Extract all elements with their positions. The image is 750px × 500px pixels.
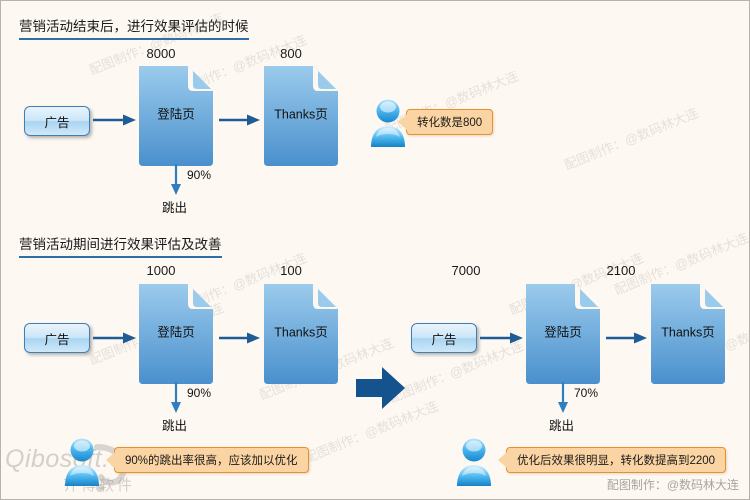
callout-tail — [106, 452, 115, 468]
diagram-canvas: 配图制作：@数码林大连 配图制作：@数码林大连 配图制作：@数码林大连 配图制作… — [0, 0, 750, 500]
arrow-ad-to-landing-2 — [93, 331, 137, 345]
bounce-rate-2: 90% — [187, 386, 211, 400]
section-title-1: 营销活动结束后，进行效果评估的时候 — [19, 15, 249, 40]
callout-tail — [498, 452, 507, 468]
ad-node-label: 广告 — [44, 112, 69, 131]
section-title-2: 营销活动期间进行效果评估及改善 — [19, 233, 222, 258]
thanks-page-node-1[interactable]: Thanks页 — [261, 63, 341, 168]
arrow-landing-to-thanks-3 — [606, 331, 648, 345]
arrow-landing-to-thanks-2 — [219, 331, 261, 345]
landing-page-node-2[interactable]: 登陆页 — [136, 281, 216, 386]
landing-count-2: 1000 — [126, 263, 196, 278]
bounce-label-1: 跳出 — [162, 197, 187, 216]
person-avatar-2 — [61, 436, 103, 491]
bounce-label-2: 跳出 — [162, 415, 187, 434]
footer-credit: 配图制作：@数码林大连 — [607, 476, 739, 493]
arrow-landing-to-thanks-1 — [219, 113, 261, 127]
thanks-page-node-2[interactable]: Thanks页 — [261, 281, 341, 386]
callout-tail — [398, 114, 407, 130]
callout-2: 90%的跳出率很高，应该加以优化 — [114, 447, 309, 473]
thanks-count-3: 2100 — [586, 263, 656, 278]
transition-block-arrow-icon — [356, 366, 406, 415]
thanks-count-1: 800 — [256, 46, 326, 61]
arrow-ad-to-landing-3 — [480, 331, 524, 345]
landing-page-node-3[interactable]: 登陆页 — [523, 281, 603, 386]
arrow-bounce-2 — [169, 382, 183, 414]
callout-text: 优化后效果很明显，转化数提高到2200 — [517, 452, 715, 468]
person-avatar-3 — [453, 436, 495, 491]
callout-3: 优化后效果很明显，转化数提高到2200 — [506, 447, 726, 473]
bounce-rate-1: 90% — [187, 168, 211, 182]
bounce-label-3: 跳出 — [549, 415, 574, 434]
ad-node-label: 广告 — [431, 329, 456, 348]
arrow-ad-to-landing-1 — [93, 113, 137, 127]
landing-count-3: 7000 — [431, 263, 501, 278]
landing-page-node-1[interactable]: 登陆页 — [136, 63, 216, 168]
arrow-bounce-3 — [556, 382, 570, 414]
ad-node-1[interactable]: 广告 — [24, 106, 90, 136]
landing-count-1: 8000 — [126, 46, 196, 61]
thanks-count-2: 100 — [256, 263, 326, 278]
ad-node-2[interactable]: 广告 — [24, 323, 90, 353]
callout-text: 90%的跳出率很高，应该加以优化 — [125, 452, 298, 468]
arrow-bounce-1 — [169, 164, 183, 196]
watermark-text: 配图制作：@数码林大连 — [561, 102, 701, 173]
thanks-page-node-3[interactable]: Thanks页 — [648, 281, 728, 386]
bounce-rate-3: 70% — [574, 386, 598, 400]
callout-1: 转化数是800 — [406, 109, 493, 135]
ad-node-label: 广告 — [44, 329, 69, 348]
ad-node-3[interactable]: 广告 — [411, 323, 477, 353]
callout-text: 转化数是800 — [417, 114, 482, 130]
